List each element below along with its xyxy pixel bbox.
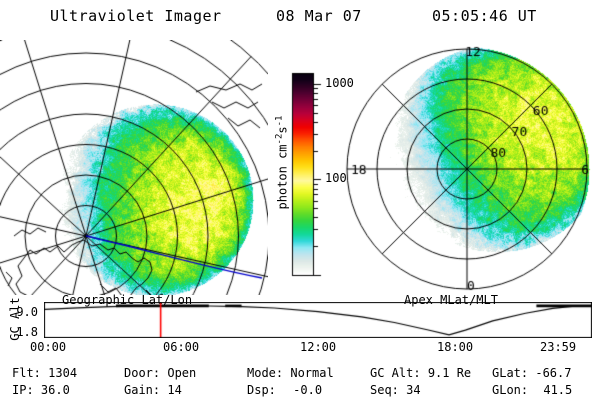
status-gain-label: Gain:	[124, 383, 160, 397]
status-gcalt-label: GC Alt:	[370, 366, 421, 380]
status-flight-value: 1304	[48, 366, 77, 380]
colorbar-unit-exp1: -2	[275, 134, 285, 145]
colorbar-unit-seconds: s	[276, 126, 290, 133]
status-mode-value: Normal	[290, 366, 333, 380]
status-glon: GLon: 41.5	[492, 383, 572, 397]
colorbar-unit-text: photon cm	[276, 144, 290, 209]
status-glat-label: GLat:	[492, 366, 528, 380]
status-flight: Flt: 1304	[12, 366, 77, 380]
colorbar-axis-label: photon cm-2s-1	[275, 83, 290, 243]
status-seq-value: 34	[406, 383, 420, 397]
status-gain-value: 14	[167, 383, 181, 397]
apex-mlt-plot-panel[interactable]	[332, 40, 600, 295]
colorbar-gradient	[262, 60, 334, 295]
orbit-altitude-track[interactable]	[44, 302, 592, 338]
orbit-x-tick-0600: 06:00	[163, 340, 199, 354]
uvi-application-window: Ultraviolet Imager 08 Mar 07 05:05:46 UT…	[0, 0, 600, 400]
status-dsp: Dsp: -0.0	[247, 383, 322, 397]
orbit-altitude-strip[interactable]: GC Alt 9.0 1.8 00:00 06:00 12:00 18:00 2…	[0, 300, 600, 358]
colorbar-group: photon cm-2s-1 1000 100	[262, 60, 334, 295]
status-ip-label: IP:	[12, 383, 34, 397]
orbit-x-tick-2359: 23:59	[540, 340, 576, 354]
status-gcalt-value: 9.1 Re	[428, 366, 471, 380]
apex-aurora-image[interactable]	[332, 40, 600, 295]
status-glat-value: -66.7	[535, 366, 571, 380]
colorbar-unit-exp2: -1	[275, 116, 285, 127]
colorbar-tick-label-1000: 1000	[325, 76, 354, 90]
status-gcalt: GC Alt: 9.1 Re	[370, 366, 471, 380]
observation-time: 05:05:46 UT	[432, 7, 537, 25]
colorbar-tick-label-100: 100	[325, 171, 347, 185]
status-bar: Flt: 1304 IP: 36.0 Door: Open Gain: 14 M…	[0, 362, 600, 400]
status-seq-label: Seq:	[370, 383, 399, 397]
status-mode-label: Mode:	[247, 366, 283, 380]
status-glon-value: 41.5	[543, 383, 572, 397]
orbit-y-axis-label: GC Alt	[8, 290, 22, 348]
status-door-value: Open	[167, 366, 196, 380]
status-dsp-value: -0.0	[293, 383, 322, 397]
orbit-x-tick-1200: 12:00	[300, 340, 336, 354]
geographic-aurora-image[interactable]	[0, 40, 268, 295]
status-dsp-label: Dsp:	[247, 383, 276, 397]
status-mode: Mode: Normal	[247, 366, 334, 380]
orbit-x-tick-1800: 18:00	[437, 340, 473, 354]
header-bar: Ultraviolet Imager 08 Mar 07 05:05:46 UT	[0, 0, 600, 32]
status-door-label: Door:	[124, 366, 160, 380]
orbit-y-tick-min: 1.8	[4, 325, 38, 339]
status-ip: IP: 36.0	[12, 383, 70, 397]
status-flight-label: Flt:	[12, 366, 41, 380]
status-door: Door: Open	[124, 366, 196, 380]
orbit-y-tick-max: 9.0	[4, 305, 38, 319]
status-glon-label: GLon:	[492, 383, 528, 397]
status-ip-value: 36.0	[41, 383, 70, 397]
observation-date: 08 Mar 07	[276, 7, 362, 25]
orbit-x-tick-0000: 00:00	[30, 340, 66, 354]
status-seq: Seq: 34	[370, 383, 421, 397]
status-glat: GLat: -66.7	[492, 366, 571, 380]
instrument-title: Ultraviolet Imager	[50, 7, 222, 25]
geographic-plot-panel[interactable]	[0, 40, 268, 295]
status-gain: Gain: 14	[124, 383, 182, 397]
